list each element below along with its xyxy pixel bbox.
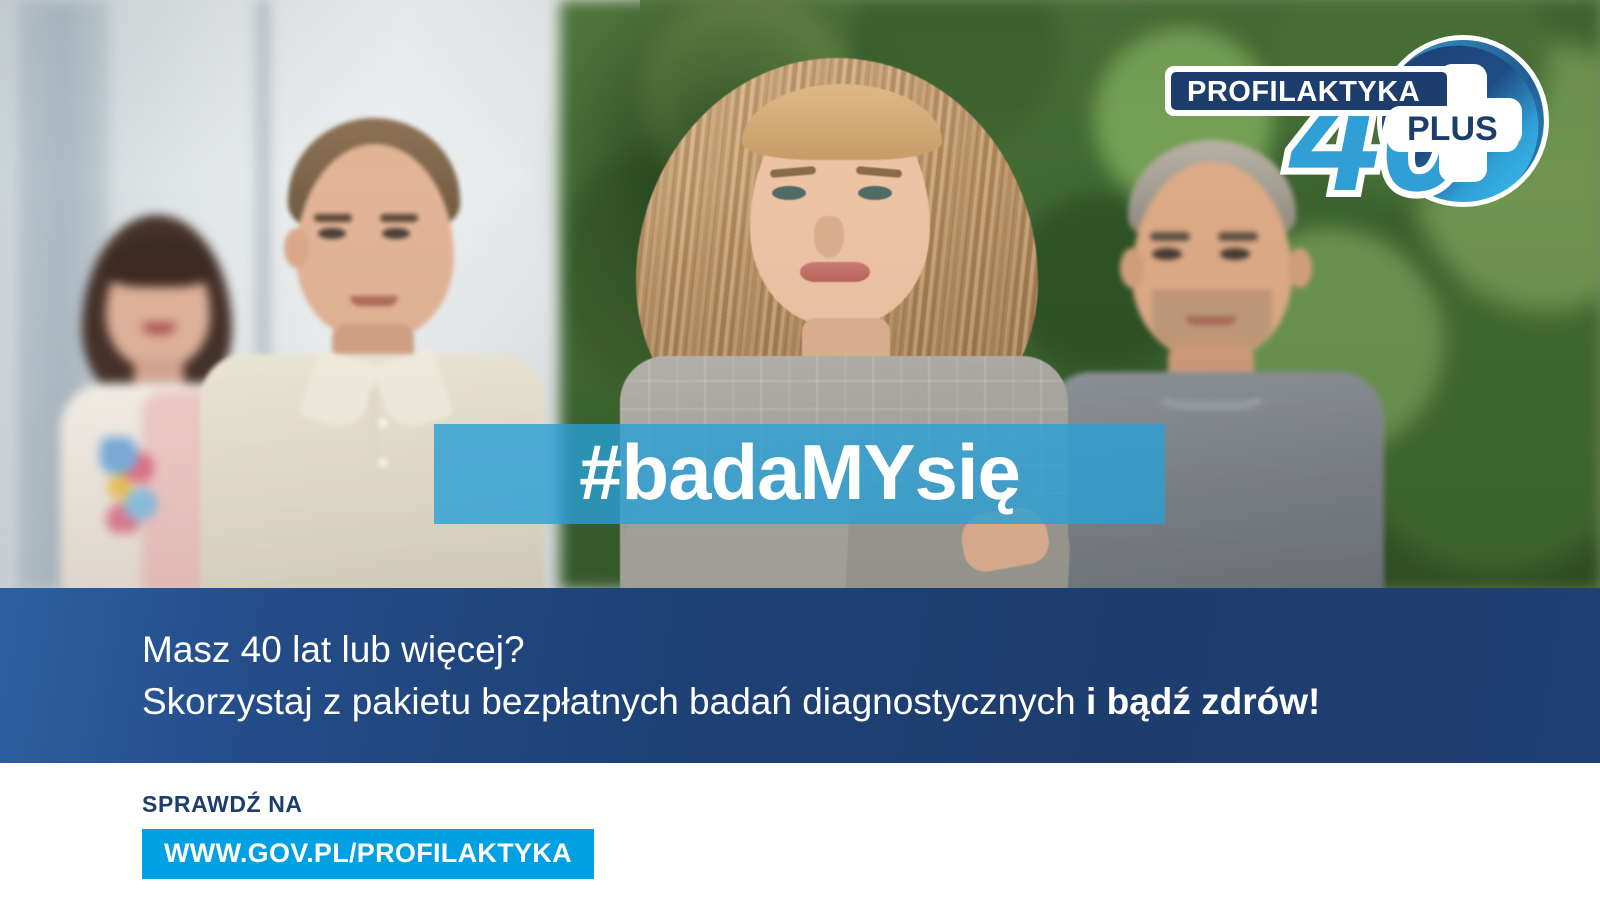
shirt-button xyxy=(378,458,388,468)
eye-left xyxy=(1152,248,1182,260)
eyebrow-left xyxy=(1150,232,1190,241)
message-line-2: Skorzystaj z pakietu bezpłatnych badań d… xyxy=(142,676,1600,727)
lips xyxy=(800,262,870,282)
ear-right xyxy=(1288,248,1312,288)
campaign-banner: #badaMYsię xyxy=(0,0,1600,900)
logo-svg: 40 40 PROFILAKTYKA PLUS xyxy=(1163,28,1583,213)
cta-label: SPRAWDŹ NA xyxy=(142,791,594,818)
ear xyxy=(284,228,310,268)
mouth xyxy=(350,296,398,306)
hashtag-text: #badaMYsię xyxy=(579,433,1020,511)
message-band: Masz 40 lat lub więcej? Skorzystaj z pak… xyxy=(0,588,1600,763)
eye-left xyxy=(318,228,346,239)
profilaktyka-40-plus-logo: 40 40 PROFILAKTYKA PLUS xyxy=(1163,28,1583,213)
shirt-button xyxy=(378,418,388,428)
floral-embroidery xyxy=(100,437,158,533)
message-line-2-normal: Skorzystaj z pakietu bezpłatnych badań d… xyxy=(142,681,1086,722)
logo-word-top: PROFILAKTYKA xyxy=(1187,76,1420,108)
eye-right xyxy=(382,228,410,239)
cta-block: SPRAWDŹ NA WWW.GOV.PL/PROFILAKTYKA xyxy=(142,791,594,879)
ear-left xyxy=(1120,248,1144,288)
eyebrow-left xyxy=(314,214,352,222)
eyebrow-right xyxy=(380,214,418,222)
eye-right xyxy=(1220,248,1250,260)
placket xyxy=(368,390,380,486)
message-line-1: Masz 40 lat lub więcej? xyxy=(142,624,1600,675)
collar xyxy=(1152,376,1272,410)
mouth xyxy=(1186,316,1236,325)
footer-bar: SPRAWDŹ NA WWW.GOV.PL/PROFILAKTYKA POLSK… xyxy=(0,763,1600,900)
nose xyxy=(814,216,844,258)
logo-plus-pill: PLUS xyxy=(1387,106,1519,152)
eyebrow-right xyxy=(1218,232,1258,241)
hashtag-band: #badaMYsię xyxy=(434,424,1165,524)
message-line-2-bold: i bądź zdrów! xyxy=(1086,681,1320,722)
eye-right xyxy=(858,186,892,200)
cta-url-button[interactable]: WWW.GOV.PL/PROFILAKTYKA xyxy=(142,829,594,879)
eye-left xyxy=(772,186,806,200)
logo-word-plus: PLUS xyxy=(1407,110,1498,148)
